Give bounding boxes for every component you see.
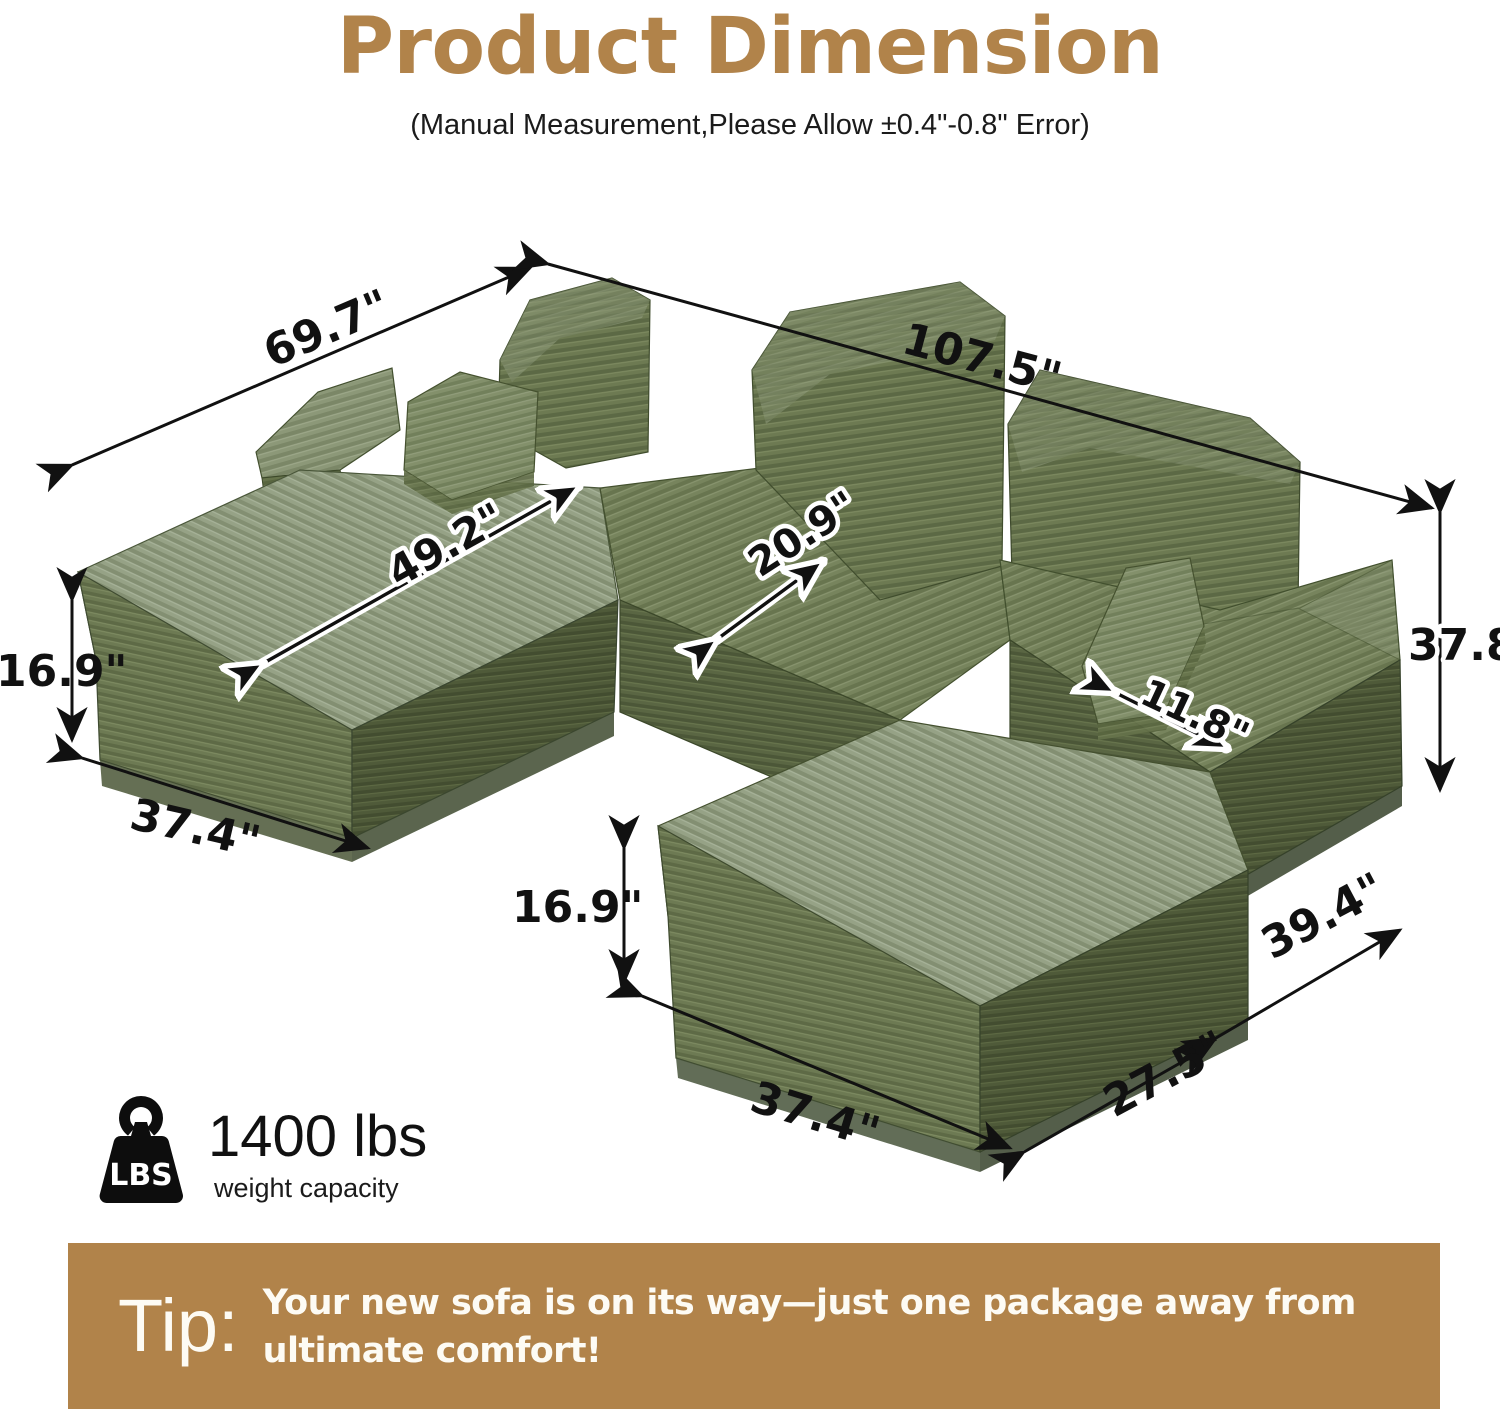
product-dimension-infographic: Product Dimension (Manual Measurement,Pl… (0, 0, 1500, 1409)
dimension-label-overall-height: 37.8" (1408, 620, 1500, 671)
left-chaise-module (78, 278, 650, 862)
tip-text: Your new sofa is on its way—just one pac… (263, 1279, 1393, 1375)
dimension-label-seat-height-left: 16.9" (0, 646, 127, 697)
weight-icon-text: LBS (109, 1158, 173, 1193)
weight-capacity-block: LBS 1400 lbs weight capacity (86, 1088, 506, 1228)
weight-capacity-value: 1400 lbs (208, 1106, 427, 1168)
tip-label: Tip: (118, 1287, 239, 1365)
dimension-label-depth-overall: 69.7" (256, 280, 397, 378)
tip-banner: Tip: Your new sofa is on its way—just on… (68, 1243, 1440, 1409)
weight-lbs-icon: LBS (86, 1092, 196, 1210)
dimension-label-ottoman-height: 16.9" (512, 882, 643, 933)
weight-capacity-caption: weight capacity (214, 1172, 399, 1204)
